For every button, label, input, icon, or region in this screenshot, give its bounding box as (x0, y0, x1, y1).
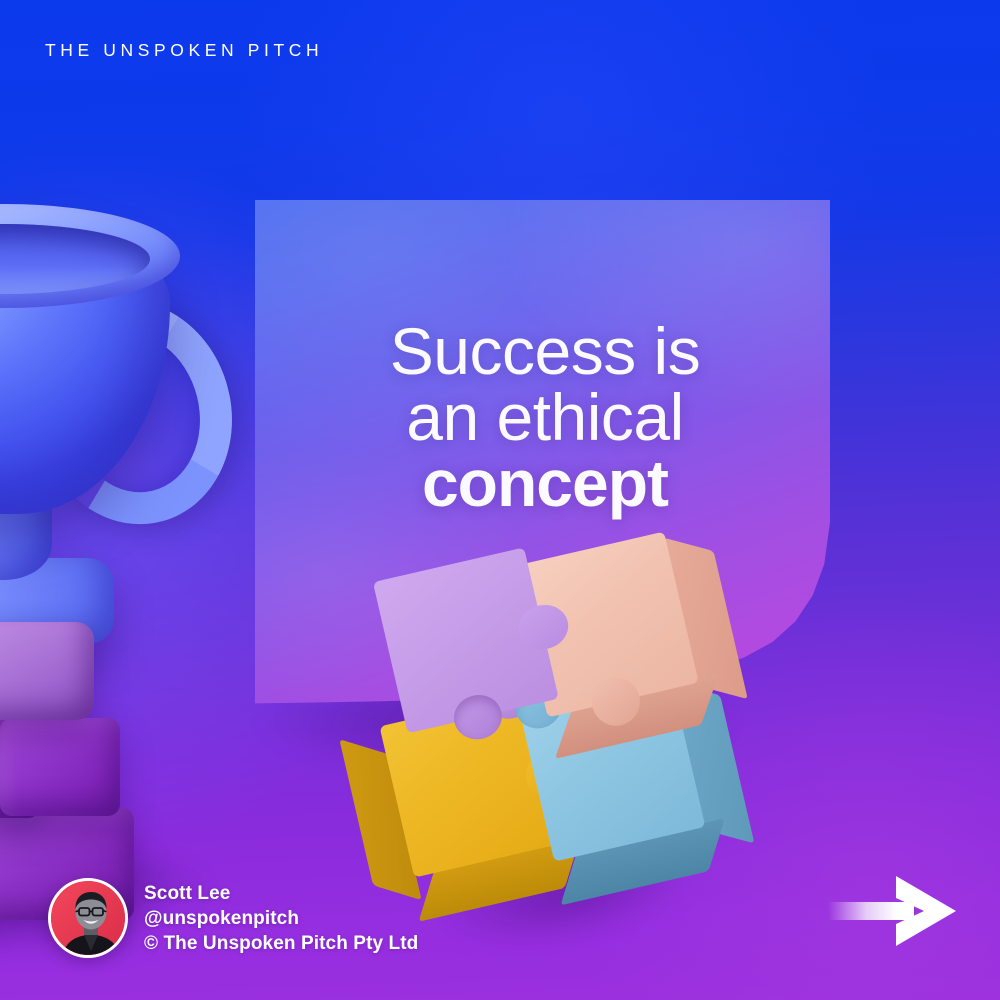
footer-attribution: Scott Lee @unspokenpitch © The Unspoken … (48, 878, 418, 958)
quote-line-2: an ethical (300, 384, 790, 450)
byline: Scott Lee @unspokenpitch © The Unspoken … (144, 881, 418, 956)
author-name: Scott Lee (144, 881, 418, 906)
avatar (48, 878, 128, 958)
slide-canvas: THE UNSPOKEN PITCH Success is an ethical… (0, 0, 1000, 1000)
quote-line-3: concept (300, 450, 790, 516)
brand-wordmark: THE UNSPOKEN PITCH (45, 40, 323, 61)
pedestal-block (0, 718, 120, 816)
next-arrow-button[interactable] (828, 874, 960, 948)
quote-text: Success is an ethical concept (300, 318, 790, 516)
pedestal-block (0, 622, 94, 720)
avatar-portrait-icon (51, 881, 128, 958)
copyright-notice: © The Unspoken Pitch Pty Ltd (144, 931, 418, 956)
quote-line-1: Success is (300, 318, 790, 384)
author-handle: @unspokenpitch (144, 906, 418, 931)
arrow-right-icon[interactable] (828, 874, 960, 948)
block-pedestal-illustration (0, 630, 260, 920)
